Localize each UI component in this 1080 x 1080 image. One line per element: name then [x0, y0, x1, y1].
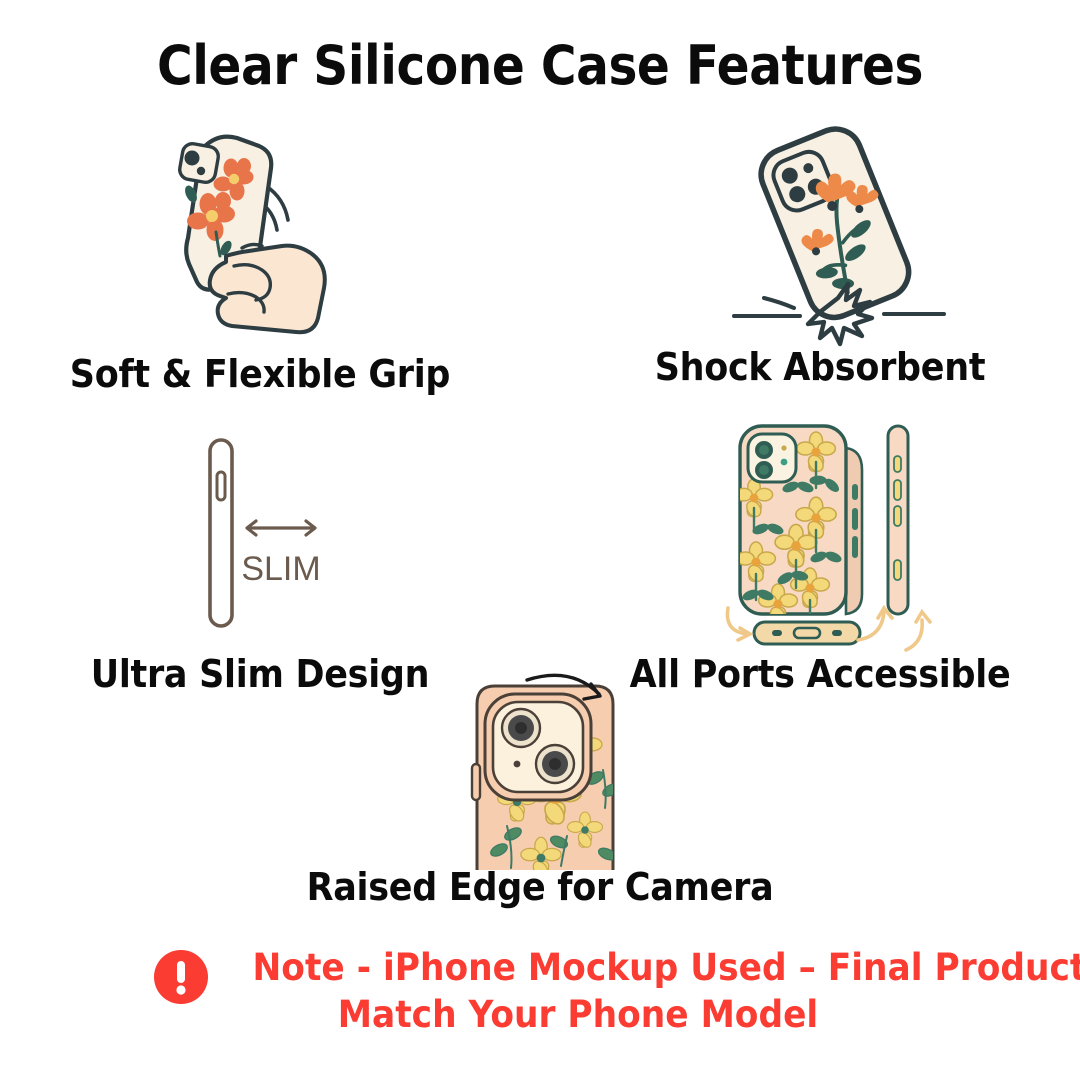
ultra-slim-design-illustration: SLIM	[188, 428, 378, 638]
shock-absorbent-illustration	[726, 116, 946, 348]
soft-flexible-grip-illustration	[138, 116, 368, 346]
slim-annotation-text: SLIM	[241, 550, 320, 588]
raised-edge-for-camera-illustration	[455, 658, 650, 870]
feature-label-all-ports-accessible: All Ports Accessible	[581, 652, 1059, 696]
note-line-1: Note - iPhone Mockup Used – Final Produc…	[253, 944, 904, 991]
note-line-2: Match Your Phone Model	[253, 991, 904, 1038]
exclamation-circle-icon	[152, 948, 210, 1006]
page-title: Clear Silicone Case Features	[54, 34, 1026, 97]
side-button	[217, 472, 225, 500]
note-banner: Note - iPhone Mockup Used – Final Produc…	[0, 944, 1080, 1039]
phone-side-profile	[210, 440, 232, 626]
feature-label-soft-flexible-grip: Soft & Flexible Grip	[21, 352, 499, 396]
width-arrow	[247, 521, 315, 535]
feature-label-shock-absorbent: Shock Absorbent	[581, 345, 1059, 389]
infographic-root: Clear Silicone Case Features	[0, 0, 1080, 1080]
feature-label-ultra-slim-design: Ultra Slim Design	[21, 652, 499, 696]
note-text: Note - iPhone Mockup Used – Final Produc…	[253, 944, 904, 1039]
all-ports-accessible-illustration	[706, 414, 936, 656]
feature-label-raised-edge-for-camera: Raised Edge for Camera	[43, 865, 1037, 909]
side-button	[472, 764, 480, 800]
